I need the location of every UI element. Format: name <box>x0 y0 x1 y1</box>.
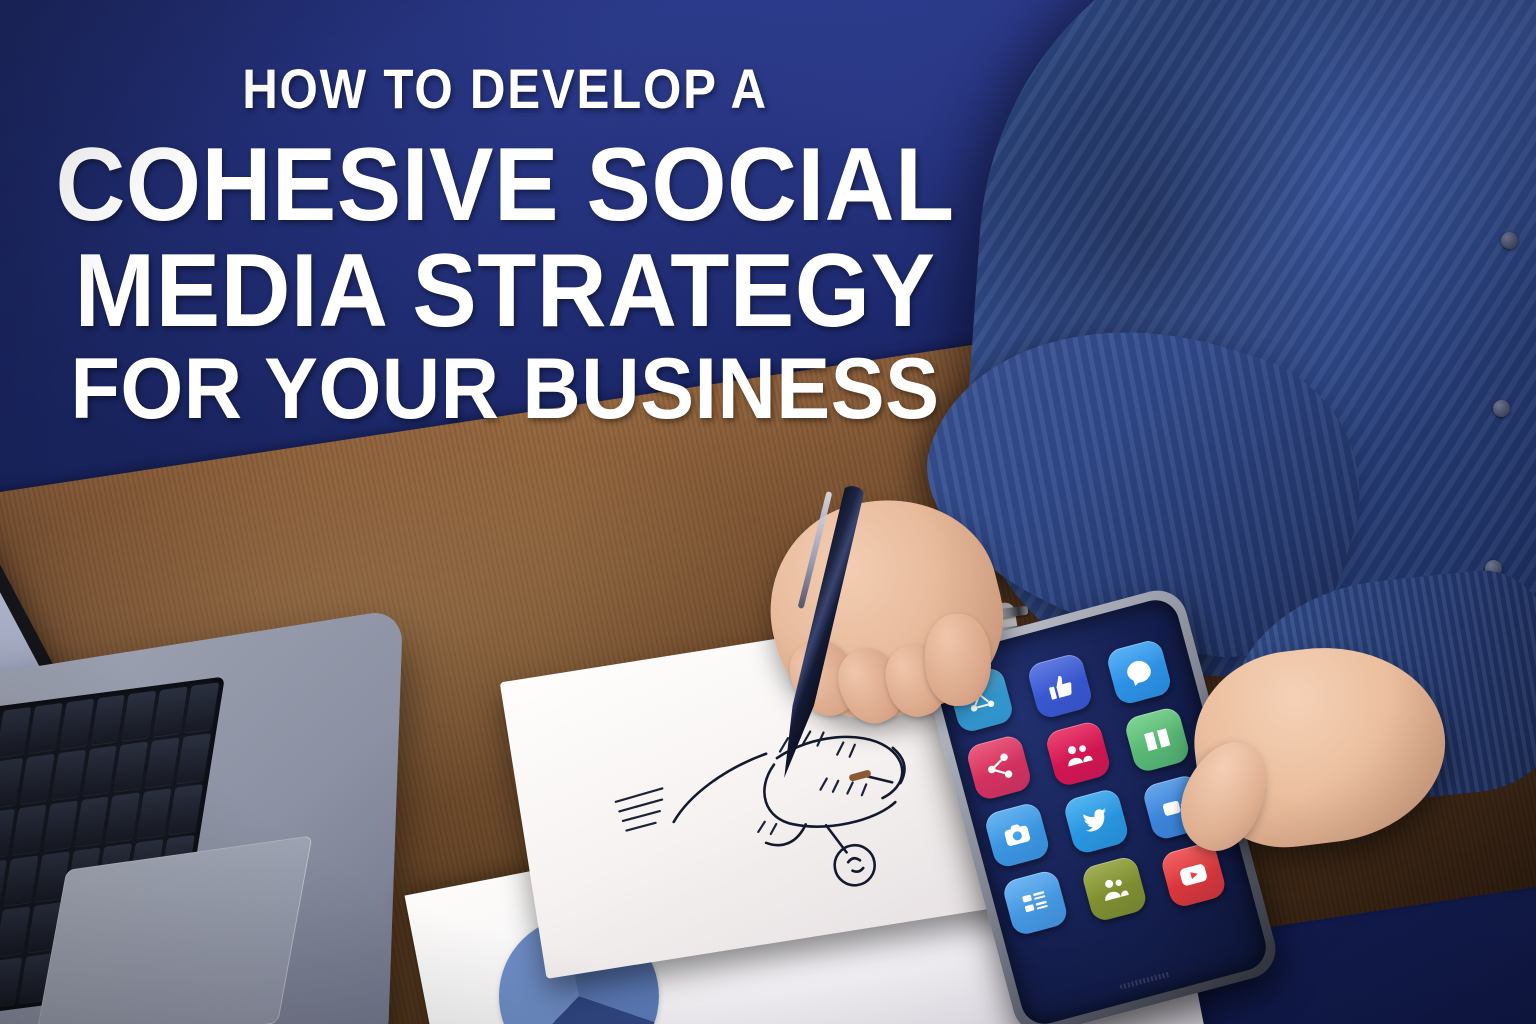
community-icon[interactable] <box>1044 719 1113 788</box>
share-icon[interactable] <box>965 733 1034 802</box>
messenger-icon[interactable] <box>1105 638 1174 707</box>
headline-eyebrow: HOW TO DEVELOP A <box>61 62 950 117</box>
book-icon[interactable] <box>1123 705 1192 774</box>
twitter-icon[interactable] <box>1062 787 1131 856</box>
thumb <box>923 613 992 707</box>
shirt-button <box>1501 232 1518 249</box>
laptop-body <box>0 608 403 1024</box>
feed-icon[interactable] <box>1001 869 1070 938</box>
graphic-canvas: HOW TO DEVELOP A COHESIVE SOCIAL MEDIA S… <box>0 0 1536 1024</box>
facebook-icon[interactable] <box>1026 652 1095 721</box>
instagram-icon[interactable] <box>983 801 1052 870</box>
shirt-button <box>1493 400 1510 417</box>
headline-line-3: FOR YOUR BUSINESS <box>30 347 979 431</box>
headline-line-1: COHESIVE SOCIAL <box>35 135 974 237</box>
headline-line-2: MEDIA STRATEGY <box>35 241 974 343</box>
people-icon[interactable] <box>1080 855 1149 924</box>
phone-speaker-grille <box>1119 971 1171 989</box>
headline-block: HOW TO DEVELOP A COHESIVE SOCIAL MEDIA S… <box>0 62 1010 431</box>
